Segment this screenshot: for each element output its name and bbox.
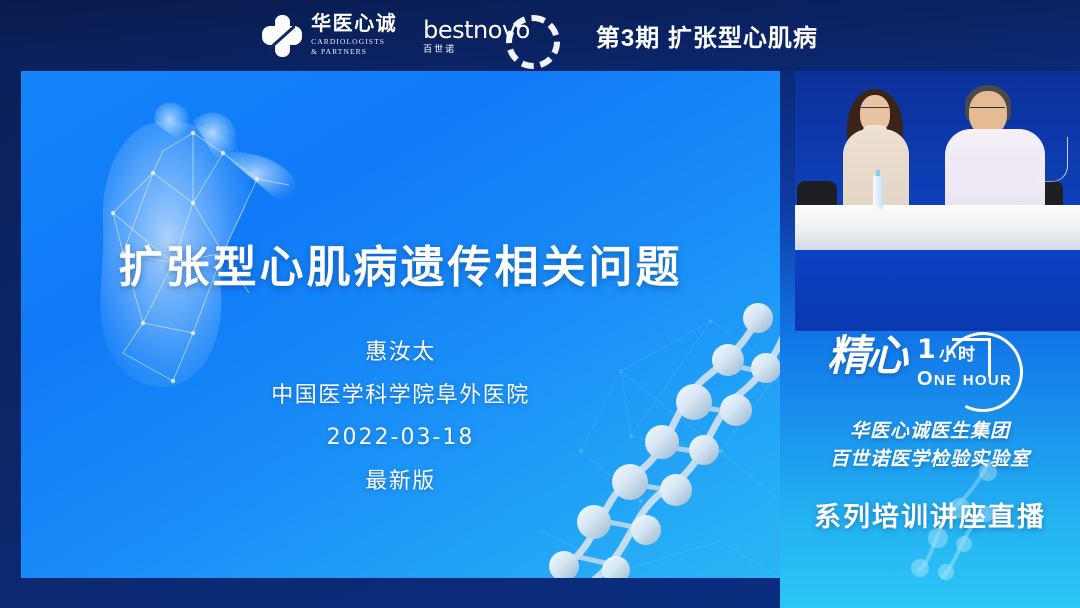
- bestnovo-name-cn: 百世诺: [423, 45, 530, 54]
- header-bar: 华医心诚 CARDIOLOGISTS & PARTNERS bestnovo 百…: [0, 0, 1080, 71]
- huayi-name-cn: 华医心诚: [311, 14, 397, 34]
- huayi-logo: 华医心诚 CARDIOLOGISTS & PARTNERS: [262, 14, 397, 57]
- glasses-icon: [861, 107, 889, 114]
- broadcast-screen: 华医心诚 CARDIOLOGISTS & PARTNERS bestnovo 百…: [0, 0, 1080, 608]
- slide-title: 扩张型心肌病遗传相关问题: [119, 231, 683, 295]
- slide-metadata: 惠汝太 中国医学科学院阜外医院 2022-03-18 最新版: [271, 331, 530, 503]
- chair-left: [797, 181, 837, 207]
- logo-one-hour-rest: NE HOUR: [934, 372, 1012, 389]
- slide-content: 扩张型心肌病遗传相关问题 惠汝太 中国医学科学院阜外医院 2022-03-18 …: [21, 71, 780, 578]
- microphone-cable: [1037, 137, 1068, 182]
- logo-number: 1: [917, 334, 936, 365]
- water-bottle: [873, 175, 883, 209]
- huayi-logo-text: 华医心诚 CARDIOLOGISTS & PARTNERS: [311, 14, 397, 57]
- huayi-name-en-1: CARDIOLOGISTS: [311, 37, 397, 47]
- huayi-cross-flower-icon: [262, 15, 302, 57]
- huayi-name-en-2: & PARTNERS: [311, 47, 397, 57]
- molecule-decoration-icon: [898, 452, 1008, 582]
- logo-script-cn: 精心: [827, 336, 905, 378]
- logo-one-hour-en: ONE HOUR: [917, 368, 1012, 391]
- studio-floor: [795, 250, 1080, 331]
- slide-version: 最新版: [271, 460, 530, 503]
- slide-affiliation: 中国医学科学院阜外医院: [271, 374, 530, 417]
- one-hour-logo: 精心 1 小时 ONE HOUR: [825, 330, 1035, 410]
- bestnovo-wordmark: bestnovo: [423, 18, 530, 42]
- brand-line-1: 华医心诚医生集团: [780, 418, 1080, 446]
- logo-unit-cn: 小时: [939, 340, 977, 365]
- header-title: 第3期 扩张型心肌病: [596, 18, 818, 53]
- logo-one-hour-lead: O: [917, 368, 934, 390]
- speakers-video-feed[interactable]: [795, 71, 1080, 331]
- slide-presenter: 惠汝太: [271, 331, 530, 374]
- bestnovo-logo: bestnovo 百世诺: [423, 13, 560, 59]
- presentation-slide: 扩张型心肌病遗传相关问题 惠汝太 中国医学科学院阜外医院 2022-03-18 …: [21, 71, 780, 578]
- right-sidebar: 精心 1 小时 ONE HOUR 华医心诚医生集团 百世诺医学检验实验室 系列培…: [780, 0, 1080, 608]
- glasses-icon: [970, 107, 1005, 114]
- slide-date: 2022-03-18: [271, 417, 530, 460]
- conference-table: [795, 205, 1080, 250]
- man-presenter: [945, 85, 1049, 211]
